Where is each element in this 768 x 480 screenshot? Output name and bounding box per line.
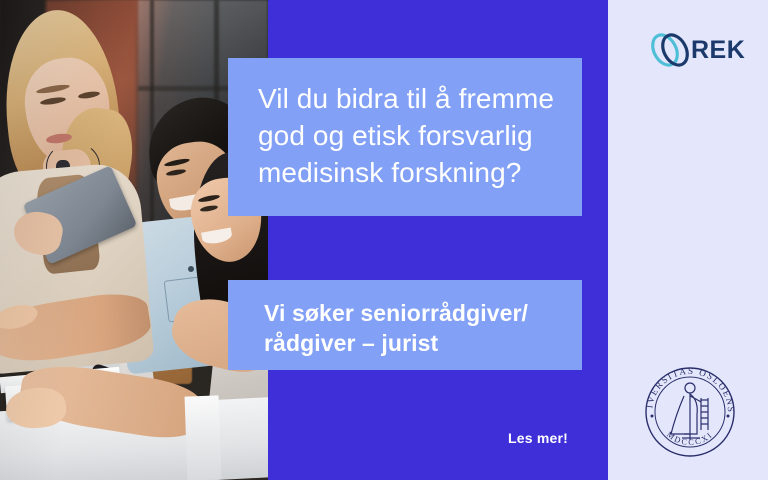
photo-window-frame-left (150, 0, 154, 232)
headline-line-2: god og etisk forsvarlig (258, 120, 533, 151)
rek-logo: REK (648, 26, 744, 74)
uio-seal: UNIVERSITAS OSLOENSIS MDCCCXI (638, 360, 742, 464)
recruitment-banner: REK UNIVERSITAS OSLOENSIS MDCCCXI (0, 0, 768, 480)
photo-desk-object (185, 395, 222, 480)
headline-line-1: Vil du bidra til å fremme (258, 83, 554, 114)
headline-line-3: medisinsk forskning? (258, 157, 521, 188)
photo-person-man-shirt-button (188, 266, 194, 272)
role-line-1: Vi søker seniorrådgiver/ (264, 300, 528, 326)
role-line-2: rådgiver – jurist (264, 330, 438, 356)
rek-wordmark: REK (691, 38, 745, 63)
headline-box: Vil du bidra til å fremme god og etisk f… (228, 58, 582, 216)
role-box: Vi søker seniorrådgiver/ rådgiver – juri… (228, 280, 582, 370)
rek-interlocking-loops-icon (648, 28, 694, 72)
read-more-link[interactable]: Les mer! (400, 430, 568, 446)
role-title: Vi søker seniorrådgiver/ rådgiver – juri… (264, 298, 560, 359)
page-title: Vil du bidra til å fremme god og etisk f… (258, 80, 556, 192)
apollo-with-lyre-seal-icon (671, 383, 708, 440)
